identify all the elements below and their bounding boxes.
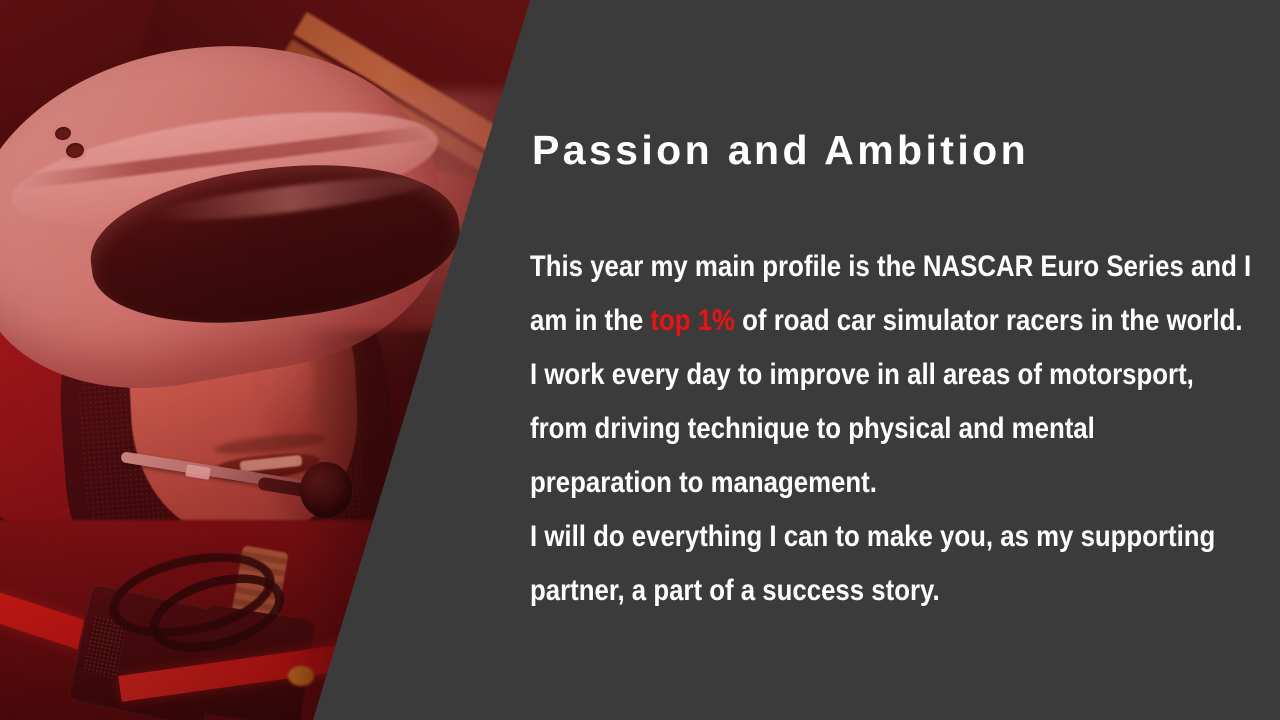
paragraph-2-line-3: preparation to management. [530,466,877,499]
paragraph-3: I will do everything I can to make you, … [530,510,1149,618]
paragraph-3-line-1: I will do everything I can to make you, … [530,520,1215,553]
paragraph-1-line-2-after: of road car simulator racers in the worl… [735,304,1243,337]
photo-artwork [0,0,560,720]
paragraph-2-line-1: I work every day to improve in all areas… [530,358,1194,391]
paragraph-2-line-2: from driving technique to physical and m… [530,412,1095,445]
paragraph-1: This year my main profile is the NASCAR … [530,240,1149,348]
text-panel: Passion and Ambition This year my main p… [530,0,1280,720]
top-one-percent-highlight: top 1% [650,304,735,337]
slide: Passion and Ambition This year my main p… [0,0,1280,720]
paragraph-2: I work every day to improve in all areas… [530,348,1149,510]
body-copy: This year my main profile is the NASCAR … [530,240,1149,618]
driver-photo [0,0,560,720]
red-light-tint-overlay [0,0,560,720]
paragraph-3-line-2: partner, a part of a success story. [530,574,940,607]
paragraph-1-line-2-before: am in the [530,304,650,337]
page-title: Passion and Ambition [532,130,1029,171]
paragraph-1-line-1: This year my main profile is the NASCAR … [530,250,1251,283]
